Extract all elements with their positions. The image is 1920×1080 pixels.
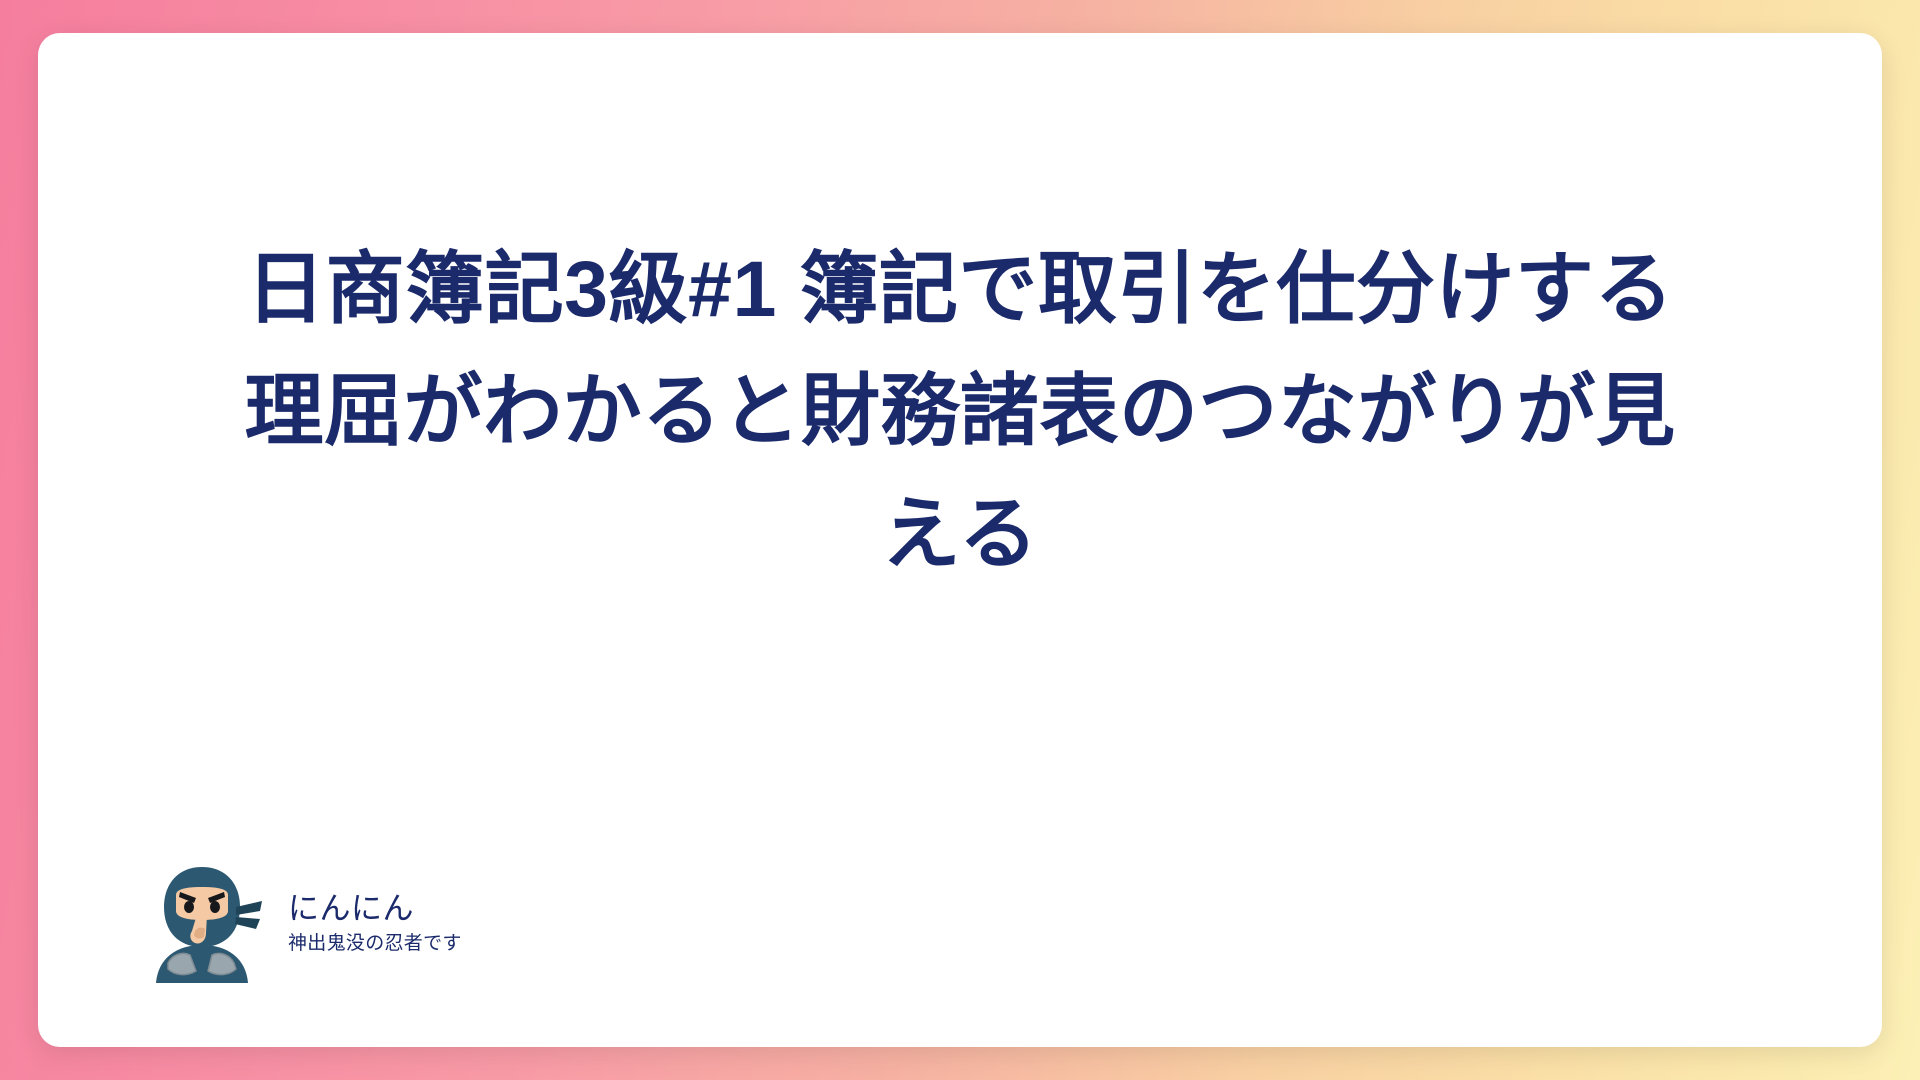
- author-text-block: にんにん 神出鬼没の忍者です: [288, 890, 462, 956]
- author-description: 神出鬼没の忍者です: [288, 933, 462, 956]
- ninja-emoji-icon: [138, 859, 266, 987]
- avatar: [138, 859, 266, 987]
- page-title: 日商簿記3級#1 簿記で取引を仕分けする理屈がわかると財務諸表のつながりが見える: [240, 228, 1680, 595]
- content-card: 日商簿記3級#1 簿記で取引を仕分けする理屈がわかると財務諸表のつながりが見える: [38, 33, 1882, 1047]
- author-byline: にんにん 神出鬼没の忍者です: [138, 859, 462, 987]
- title-block: 日商簿記3級#1 簿記で取引を仕分けする理屈がわかると財務諸表のつながりが見える: [38, 228, 1882, 595]
- author-name: にんにん: [288, 890, 462, 927]
